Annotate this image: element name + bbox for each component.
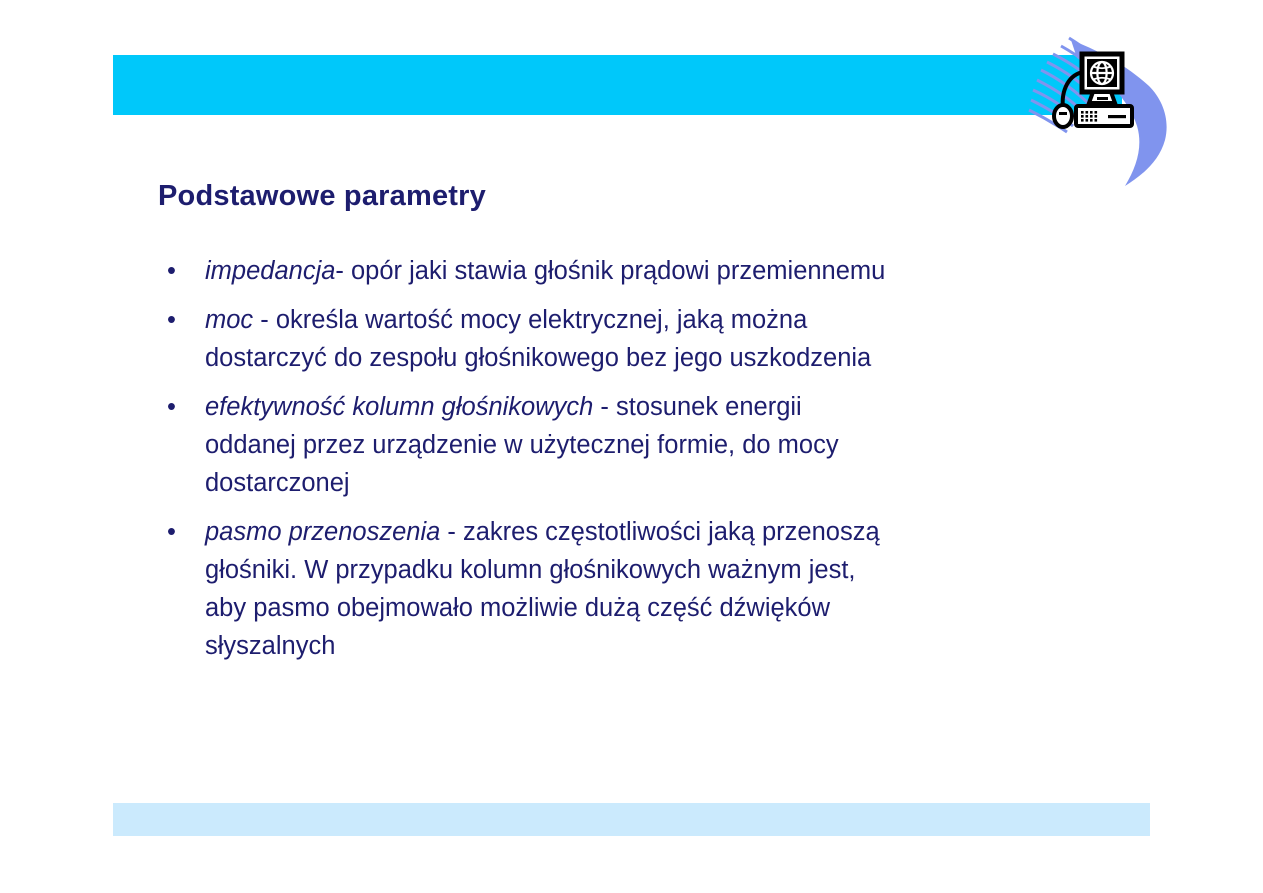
bullet-continuation-line: słyszalnych xyxy=(205,627,1148,665)
slide: Podstawowe parametry • impedancja- opór … xyxy=(0,0,1263,893)
bullet-body-text: - zakres częstotliwości jaką przenoszą xyxy=(440,518,879,546)
list-item: • impedancja- opór jaki stawia głośnik p… xyxy=(158,252,1148,290)
bullet-continuation-line: głośniki. W przypadku kolumn głośnikowyc… xyxy=(205,551,1148,589)
bullet-list: • impedancja- opór jaki stawia głośnik p… xyxy=(158,252,1148,676)
monitor-icon xyxy=(1082,54,1122,103)
bullet-marker-icon: • xyxy=(167,252,176,290)
bottom-accent-band xyxy=(113,803,1150,836)
bullet-body-text: - określa wartość mocy elektrycznej, jak… xyxy=(253,306,807,334)
bullet-lead-term: impedancja xyxy=(205,257,335,285)
bullet-lead-term: moc xyxy=(205,306,253,334)
list-item: • efektywność kolumn głośnikowych - stos… xyxy=(158,388,1148,502)
globe-icon xyxy=(1091,62,1113,84)
list-item: • moc - określa wartość mocy elektryczne… xyxy=(158,301,1148,377)
bullet-first-line: moc - określa wartość mocy elektrycznej,… xyxy=(205,301,1148,339)
bullet-continuation-line: aby pasmo obejmowało możliwie dużą część… xyxy=(205,589,1148,627)
page-title: Podstawowe parametry xyxy=(158,180,486,213)
bullet-first-line: pasmo przenoszenia - zakres częstotliwoś… xyxy=(205,513,1148,551)
bullet-first-line: efektywność kolumn głośnikowych - stosun… xyxy=(205,388,1148,426)
bullet-marker-icon: • xyxy=(167,388,176,426)
bullet-continuation-line: dostarczonej xyxy=(205,464,1148,502)
bullet-first-line: impedancja- opór jaki stawia głośnik prą… xyxy=(205,252,1148,290)
list-item: • pasmo przenoszenia - zakres częstotliw… xyxy=(158,513,1148,665)
bullet-continuation-line: oddanej przez urządzenie w użytecznej fo… xyxy=(205,426,1148,464)
bullet-lead-term: efektywność kolumn głośnikowych xyxy=(205,393,593,421)
keyboard-icon xyxy=(1076,106,1132,126)
bullet-body-text: - stosunek energii xyxy=(593,393,801,421)
bullet-lead-term: pasmo przenoszenia xyxy=(205,518,440,546)
computer-globe-logo xyxy=(1025,28,1190,188)
top-accent-band xyxy=(113,55,1122,115)
bullet-marker-icon: • xyxy=(167,513,176,551)
bullet-marker-icon: • xyxy=(167,301,176,339)
bullet-body-text: - opór jaki stawia głośnik prądowi przem… xyxy=(335,257,885,285)
bullet-continuation-line: dostarczyć do zespołu głośnikowego bez j… xyxy=(205,339,1148,377)
